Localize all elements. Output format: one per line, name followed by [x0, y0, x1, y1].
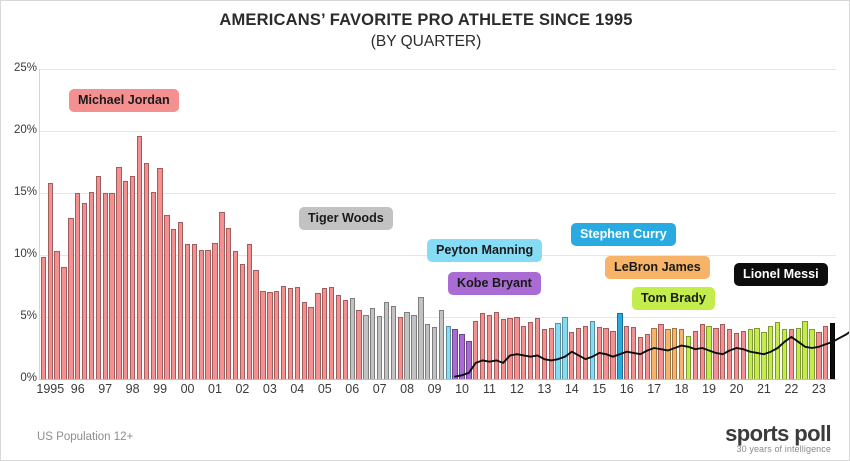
bar [583, 326, 588, 379]
bar [137, 136, 142, 379]
bar [418, 297, 423, 379]
bar [411, 315, 416, 379]
bar [672, 328, 677, 379]
bar [720, 324, 725, 379]
legend-item-stephen-curry: Stephen Curry [571, 223, 676, 246]
bar [459, 334, 464, 379]
legend-item-kobe-bryant: Kobe Bryant [448, 272, 541, 295]
bar [295, 287, 300, 379]
bar [802, 321, 807, 379]
bar [610, 331, 615, 379]
bar [247, 244, 252, 379]
bar [514, 317, 519, 379]
bar [617, 313, 622, 379]
x-axis-tick-label: 08 [400, 382, 414, 396]
y-axis-tick-label: 15% [3, 186, 37, 198]
x-axis-tick-label: 21 [757, 382, 771, 396]
bar [75, 193, 80, 379]
bar [336, 295, 341, 379]
bar [89, 192, 94, 379]
bar [308, 307, 313, 379]
bar [356, 310, 361, 379]
x-axis-tick-label: 04 [290, 382, 304, 396]
y-axis-tick-label: 10% [3, 248, 37, 260]
chart-subtitle: (BY QUARTER) [1, 31, 850, 52]
bar [452, 329, 457, 379]
bar [775, 322, 780, 379]
bar [151, 192, 156, 379]
bar [322, 288, 327, 379]
bar [116, 167, 121, 379]
bar [274, 291, 279, 379]
bar [48, 183, 53, 379]
bar [61, 267, 66, 379]
bar [727, 329, 732, 379]
bar [624, 326, 629, 379]
x-axis-tick-label: 97 [98, 382, 112, 396]
bar [41, 257, 46, 379]
chart-container: AMERICANS’ FAVORITE PRO ATHLETE SINCE 19… [0, 0, 850, 461]
bar [439, 310, 444, 379]
bar [658, 324, 663, 379]
bar [219, 212, 224, 379]
bar [507, 318, 512, 379]
legend-item-tom-brady: Tom Brady [632, 287, 715, 310]
bar [288, 288, 293, 379]
bar [706, 326, 711, 379]
bar [700, 324, 705, 379]
legend-item-peyton-manning: Peyton Manning [427, 239, 542, 262]
bar [267, 292, 272, 379]
x-axis-tick-label: 07 [373, 382, 387, 396]
x-axis-tick-label: 01 [208, 382, 222, 396]
bar [123, 181, 128, 379]
bar [521, 326, 526, 379]
x-axis-tick-label: 06 [345, 382, 359, 396]
bar [96, 176, 101, 379]
bar [638, 337, 643, 379]
bar [501, 319, 506, 379]
x-axis-tick-label: 17 [647, 382, 661, 396]
title-block: AMERICANS’ FAVORITE PRO ATHLETE SINCE 19… [1, 10, 850, 52]
x-axis-tick-label: 03 [263, 382, 277, 396]
x-axis-tick-label: 98 [126, 382, 140, 396]
x-axis-tick-label: 10 [455, 382, 469, 396]
legend-item-tiger-woods: Tiger Woods [299, 207, 393, 230]
bar [363, 315, 368, 379]
x-axis-line [40, 379, 836, 380]
x-axis-tick-label: 00 [181, 382, 195, 396]
bar [425, 324, 430, 379]
bar [329, 287, 334, 379]
bar [830, 323, 835, 379]
bar [398, 317, 403, 379]
logo-tagline: 30 years of intelligence [725, 444, 831, 455]
bar [741, 331, 746, 379]
bar [103, 193, 108, 379]
bar [576, 328, 581, 379]
bar [562, 317, 567, 379]
x-axis-tick-label: 13 [537, 382, 551, 396]
bar [253, 270, 258, 379]
x-axis-tick-label: 02 [235, 382, 249, 396]
bar [816, 332, 821, 379]
bar [542, 329, 547, 379]
bar [212, 243, 217, 379]
x-axis-tick-label: 14 [565, 382, 579, 396]
x-axis-tick-label: 18 [675, 382, 689, 396]
bar [370, 308, 375, 379]
bar [384, 302, 389, 379]
bar [178, 222, 183, 379]
bar [343, 300, 348, 379]
bar [432, 327, 437, 379]
bar [302, 302, 307, 379]
bar [82, 203, 87, 379]
y-axis-tick-label: 25% [3, 62, 37, 74]
x-axis-tick-label: 19 [702, 382, 716, 396]
x-axis-tick-label: 12 [510, 382, 524, 396]
x-axis-tick-label: 22 [784, 382, 798, 396]
bar [693, 331, 698, 379]
logo-wordmark: sports poll [725, 423, 831, 445]
bar [404, 312, 409, 379]
bar [713, 328, 718, 379]
bar [823, 326, 828, 379]
bar [233, 251, 238, 379]
bar [185, 244, 190, 379]
x-axis-tick-label: 11 [483, 382, 496, 396]
bar [199, 250, 204, 379]
bar [748, 329, 753, 379]
bar [549, 328, 554, 379]
brand-logo: sports poll 30 years of intelligence [725, 423, 831, 455]
x-axis-tick-label: 16 [620, 382, 634, 396]
bar [782, 329, 787, 379]
bar [796, 328, 801, 379]
bar [171, 229, 176, 379]
y-axis-tick-label: 20% [3, 124, 37, 136]
x-axis-tick-label: 20 [730, 382, 744, 396]
bar [734, 333, 739, 379]
bar [789, 329, 794, 379]
x-axis-tick-label: 23 [812, 382, 826, 396]
bar [651, 328, 656, 379]
bar [192, 244, 197, 379]
bar [350, 298, 355, 379]
bar [281, 286, 286, 379]
legend-item-lionel-messi: Lionel Messi [734, 263, 828, 286]
bar [130, 176, 135, 379]
bar [144, 163, 149, 379]
bar [260, 291, 265, 379]
bar [631, 327, 636, 379]
bar [597, 327, 602, 379]
bar [466, 341, 471, 379]
bar [603, 328, 608, 379]
bar [645, 334, 650, 379]
bar [494, 312, 499, 379]
bar [686, 336, 691, 379]
y-axis: 0%5%10%15%20%25% [1, 69, 37, 379]
bar [535, 318, 540, 379]
bar [665, 329, 670, 379]
bar [315, 293, 320, 379]
bar [528, 322, 533, 379]
bar [754, 328, 759, 379]
legend-item-michael-jordan: Michael Jordan [69, 89, 179, 112]
bar [109, 193, 114, 379]
y-axis-tick-label: 5% [3, 310, 37, 322]
footnote: US Population 12+ [37, 431, 133, 443]
bar-series [40, 69, 836, 379]
x-axis-tick-label: 09 [428, 382, 442, 396]
bar [555, 323, 560, 379]
bar [761, 332, 766, 379]
page-title: AMERICANS’ FAVORITE PRO ATHLETE SINCE 19… [1, 10, 850, 31]
bar [205, 250, 210, 379]
bar [473, 321, 478, 379]
x-axis-tick-label: 1995 [36, 382, 64, 396]
bar [54, 251, 59, 379]
bar [569, 332, 574, 379]
bar [809, 329, 814, 379]
bar [391, 306, 396, 379]
bar [480, 313, 485, 379]
bar [226, 228, 231, 379]
x-axis-tick-label: 99 [153, 382, 167, 396]
x-axis-tick-label: 96 [71, 382, 85, 396]
plot-area [40, 69, 836, 379]
bar [590, 321, 595, 379]
x-axis: 1995969798990001020304050607080910111213… [40, 382, 836, 406]
legend-item-lebron-james: LeBron James [605, 256, 710, 279]
bar [487, 315, 492, 379]
y-axis-tick-label: 0% [3, 372, 37, 384]
bar [679, 329, 684, 379]
bar [377, 316, 382, 379]
bar [68, 218, 73, 379]
bar [240, 264, 245, 379]
x-axis-tick-label: 15 [592, 382, 606, 396]
bar [164, 215, 169, 379]
bar [446, 326, 451, 379]
x-axis-tick-label: 05 [318, 382, 332, 396]
bar [157, 168, 162, 379]
bar [768, 326, 773, 379]
